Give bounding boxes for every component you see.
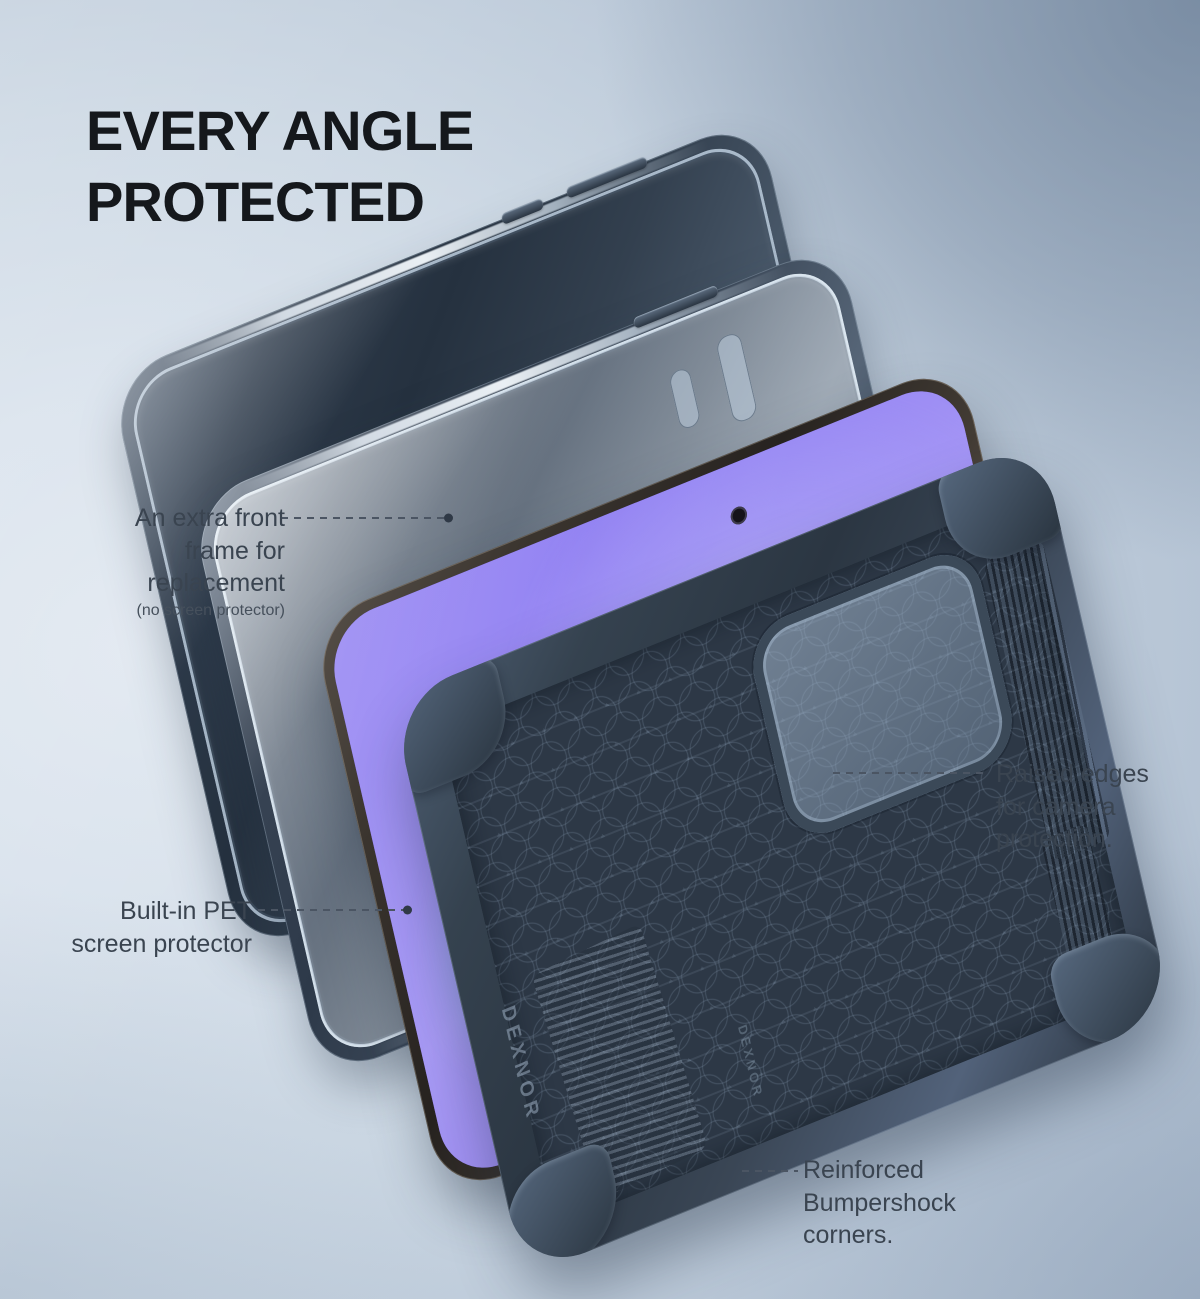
callout-front-frame-line-2: frame for bbox=[185, 537, 285, 565]
callout-front-frame-line-3: replacement bbox=[147, 569, 285, 597]
leader-dot-front-frame bbox=[444, 514, 453, 523]
callout-front-frame-line-1: An extra front bbox=[135, 504, 285, 532]
bumper-corner-bottom-left bbox=[496, 1139, 629, 1278]
callout-bumper-corners-line-3: corners. bbox=[803, 1221, 893, 1249]
callout-raised-edges-line-1: Raised edges bbox=[996, 760, 1149, 788]
leader-dot-pet-protector bbox=[403, 906, 412, 915]
leader-line-front-frame bbox=[281, 517, 449, 519]
callout-raised-edges: Raised edges for camera protection. bbox=[996, 758, 1149, 856]
leader-line-bumper-corners bbox=[742, 1170, 798, 1172]
callout-raised-edges-line-3: protection. bbox=[996, 825, 1113, 853]
callout-pet-protector: Built-in PET screen protector bbox=[42, 895, 252, 960]
callout-pet-protector-line-2: screen protector bbox=[71, 930, 252, 958]
leader-line-raised-edges bbox=[833, 772, 989, 774]
callout-front-frame-subtext: (no screen protector) bbox=[110, 600, 285, 622]
callout-raised-edges-line-2: for camera bbox=[996, 793, 1115, 821]
callout-bumper-corners-line-2: Bumpershock bbox=[803, 1189, 956, 1217]
leader-line-pet-protector bbox=[258, 909, 408, 911]
callout-bumper-corners-line-1: Reinforced bbox=[803, 1156, 924, 1184]
callout-front-frame: An extra front frame for replacement (no… bbox=[110, 502, 285, 621]
callout-pet-protector-line-1: Built-in PET bbox=[120, 897, 252, 925]
callout-bumper-corners: Reinforced Bumpershock corners. bbox=[803, 1154, 956, 1252]
page-title: EVERY ANGLE PROTECTED bbox=[86, 96, 473, 237]
page-title-line-2: PROTECTED bbox=[86, 167, 473, 238]
page-title-line-1: EVERY ANGLE bbox=[86, 96, 473, 167]
